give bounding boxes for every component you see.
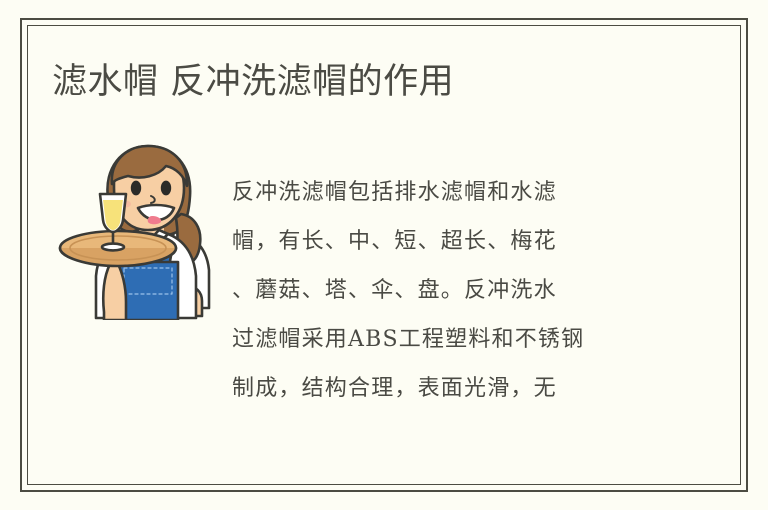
- body-line-4-text: 过滤帽采用ABS工程塑料和不锈钢: [232, 315, 584, 364]
- body-line-1-text: 反冲洗滤帽包括排水滤帽和水滤: [232, 168, 557, 217]
- body-line-4: 过滤帽采用ABS工程塑料和不锈钢: [232, 315, 648, 364]
- body-line-2-text: 帽，有长、中、短、超长、梅花: [232, 217, 557, 266]
- waitress-with-tray-illustration: [46, 136, 220, 320]
- body-line-5-text: 制成，结构合理，表面光滑，无: [232, 364, 557, 413]
- body-line-3-text: 、蘑菇、塔、伞、盘。反冲洗水: [232, 266, 557, 315]
- page-root: 滤水帽 反冲洗滤帽的作用: [0, 0, 768, 510]
- body-line-2: 帽，有长、中、短、超长、梅花: [232, 217, 648, 266]
- article-body: 反冲洗滤帽包括排水滤帽和水滤 帽，有长、中、短、超长、梅花 、蘑菇、塔、伞、盘。…: [232, 168, 648, 413]
- body-line-5: 制成，结构合理，表面光滑，无: [232, 364, 648, 413]
- body-line-1: 反冲洗滤帽包括排水滤帽和水滤: [232, 168, 648, 217]
- body-line-3: 、蘑菇、塔、伞、盘。反冲洗水: [232, 266, 648, 315]
- page-title: 滤水帽 反冲洗滤帽的作用: [52, 59, 454, 105]
